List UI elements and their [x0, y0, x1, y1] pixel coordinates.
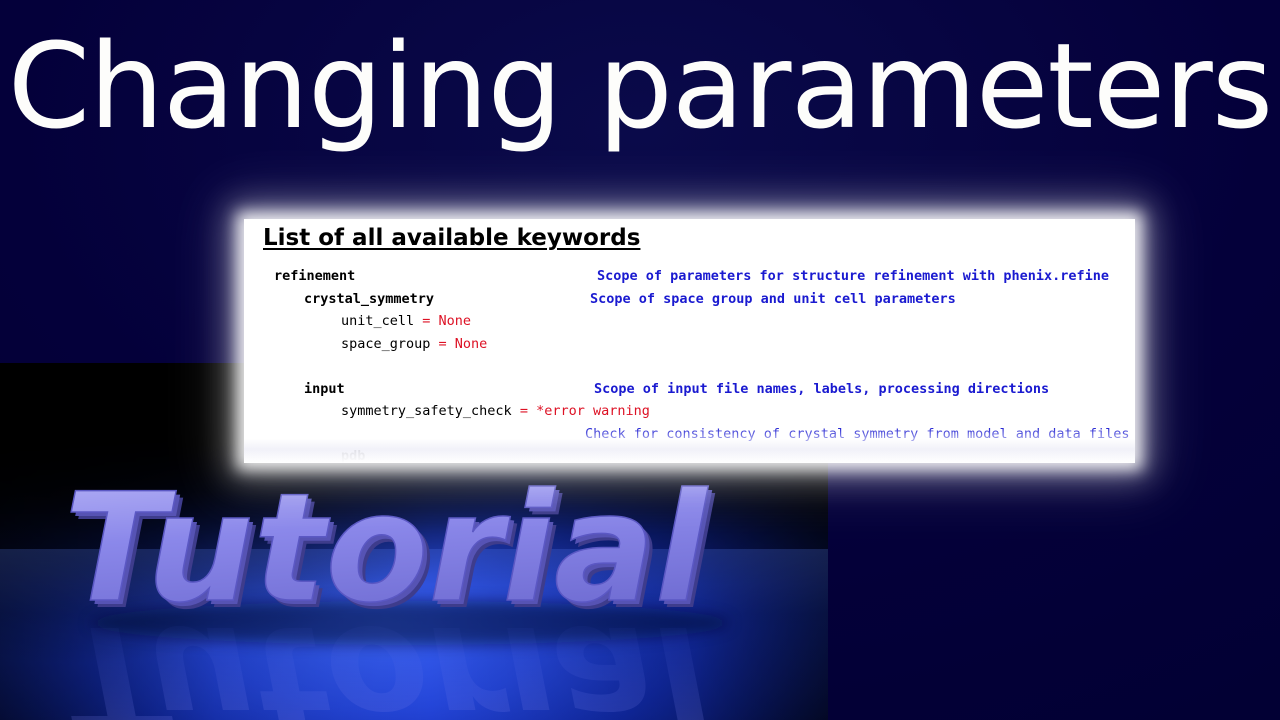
keyword-row: unit_cell = None	[244, 310, 1135, 333]
keyword-description: Scope of parameters for structure refine…	[597, 265, 1109, 288]
keyword-name: symmetry_safety_check = *error warning	[341, 400, 650, 423]
keyword-value: = None	[430, 336, 487, 352]
keyword-name: refinement	[274, 265, 355, 288]
tutorial-word-graphic: Tutorial Tutorial Tutorial Tutorial	[50, 455, 790, 635]
svg-text:Tutorial: Tutorial	[64, 592, 709, 720]
keyword-description: Scope of input file names, labels, proce…	[594, 378, 1049, 401]
keyword-name: unit_cell = None	[341, 310, 471, 333]
keyword-rows-container: refinementScope of parameters for struct…	[244, 265, 1135, 463]
keyword-row	[244, 355, 1135, 378]
page-title: Changing parameters	[0, 26, 1280, 146]
keyword-row: crystal_symmetryScope of space group and…	[244, 288, 1135, 311]
keyword-description: Scope of space group and unit cell param…	[590, 288, 956, 311]
keyword-description: Check for consistency of crystal symmetr…	[585, 423, 1130, 446]
keyword-row: refinementScope of parameters for struct…	[244, 265, 1135, 288]
panel-heading: List of all available keywords	[263, 225, 640, 251]
keyword-value: = *error warning	[512, 403, 650, 419]
keyword-name: crystal_symmetry	[304, 288, 434, 311]
keyword-row: inputScope of input file names, labels, …	[244, 378, 1135, 401]
keyword-listing-panel: List of all available keywords refinemen…	[244, 219, 1135, 463]
keyword-row: Check for consistency of crystal symmetr…	[244, 423, 1135, 446]
keyword-name: pdb	[341, 445, 365, 463]
keyword-row: pdb	[244, 445, 1135, 463]
keyword-row: symmetry_safety_check = *error warning	[244, 400, 1135, 423]
keyword-row: space_group = None	[244, 333, 1135, 356]
keyword-name: space_group = None	[341, 333, 487, 356]
keyword-value: = None	[414, 313, 471, 329]
keyword-name: input	[304, 378, 345, 401]
